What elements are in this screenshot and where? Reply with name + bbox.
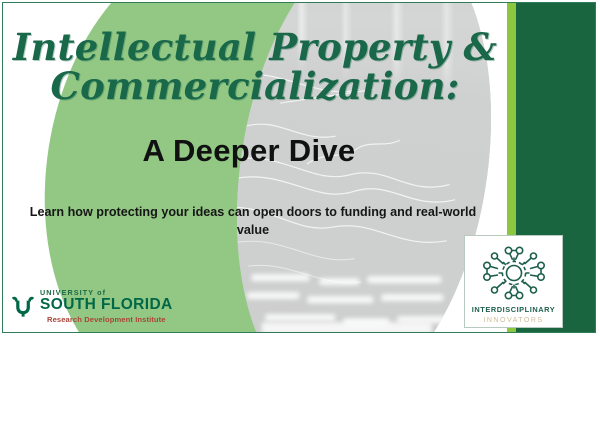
- blurred-document-caption: [262, 322, 432, 332]
- interdisciplinary-innovators-logo: INTERDISCIPLINARY INNOVATORS: [464, 235, 563, 328]
- ii-logo-line-2: INNOVATORS: [483, 317, 543, 324]
- usf-logo: UNIVERSITY of SOUTH FLORIDA Research Dev…: [11, 289, 173, 323]
- usf-wordmark: UNIVERSITY of SOUTH FLORIDA Research Dev…: [40, 289, 173, 323]
- page-description: Learn how protecting your ideas can open…: [25, 203, 481, 240]
- usf-university-of-text: UNIVERSITY of: [40, 289, 173, 296]
- page-subtitle: A Deeper Dive: [3, 133, 495, 169]
- slide-card: Intellectual Property & Commercializatio…: [2, 2, 596, 333]
- ii-logo-line-1: INTERDISCIPLINARY: [472, 305, 555, 314]
- title-line-2: Commercialization:: [3, 68, 507, 105]
- title-line-1: Intellectual Property &: [3, 29, 507, 66]
- usf-institute-text: Research Development Institute: [40, 316, 173, 324]
- gear-network-icon: [481, 244, 547, 302]
- usf-bull-icon: [11, 295, 35, 317]
- usf-south-florida-text: SOUTH FLORIDA: [40, 297, 173, 313]
- page-title: Intellectual Property & Commercializatio…: [3, 29, 507, 105]
